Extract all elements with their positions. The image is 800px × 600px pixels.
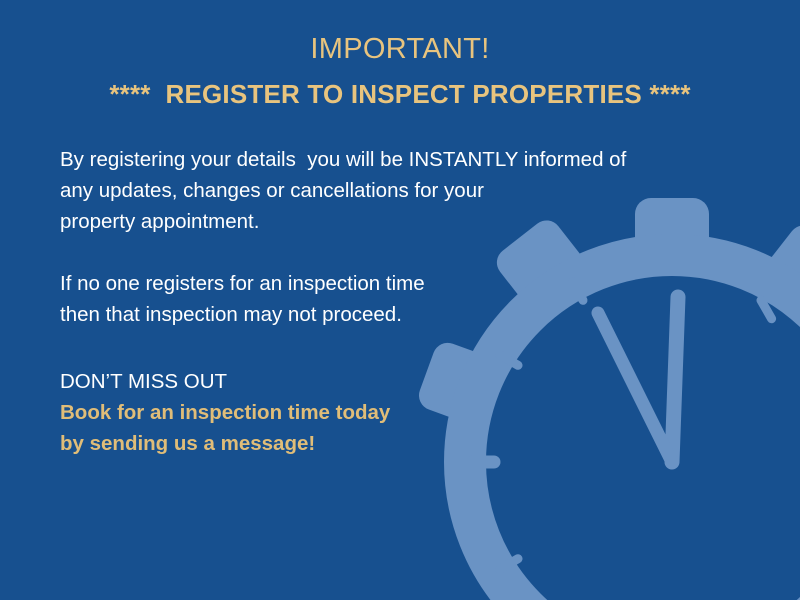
page-title: IMPORTANT! — [0, 30, 800, 68]
page-subtitle: **** REGISTER TO INSPECT PROPERTIES **** — [0, 74, 800, 114]
body-paragraph-2: If no one registers for an inspection ti… — [60, 268, 740, 330]
slide-content: IMPORTANT! **** REGISTER TO INSPECT PROP… — [0, 0, 800, 600]
slide-canvas: IMPORTANT! **** REGISTER TO INSPECT PROP… — [0, 0, 800, 600]
closing-block: DON’T MISS OUT Book for an inspection ti… — [60, 366, 620, 459]
heading-block: IMPORTANT! **** REGISTER TO INSPECT PROP… — [0, 30, 800, 114]
body-block: By registering your details you will be … — [60, 144, 740, 330]
closing-line-book-today: Book for an inspection time today — [60, 397, 620, 428]
closing-line-send-message: by sending us a message! — [60, 428, 620, 459]
body-paragraph-1: By registering your details you will be … — [60, 144, 740, 237]
closing-line-dont-miss-out: DON’T MISS OUT — [60, 366, 620, 397]
